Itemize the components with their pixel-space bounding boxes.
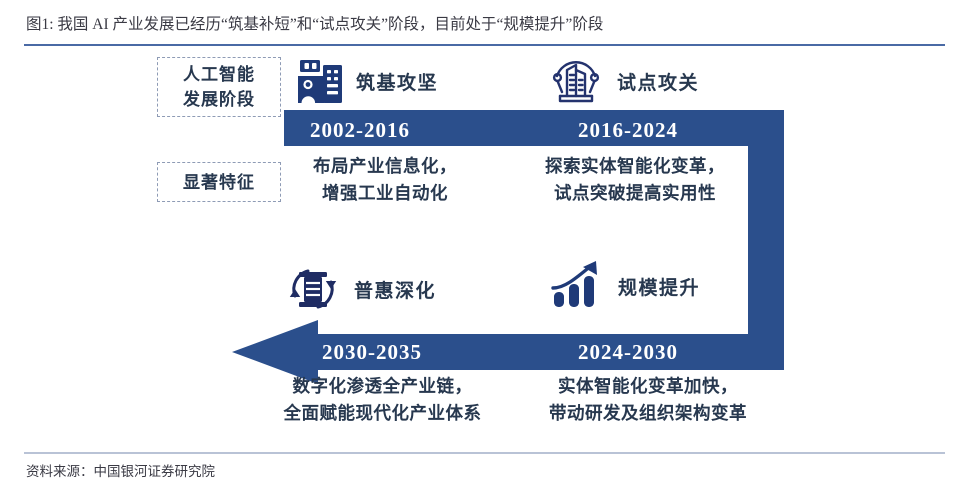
phase-heading-scale: 规模提升 <box>548 258 700 314</box>
source-note: 资料来源：中国银河证券研究院 <box>26 460 215 480</box>
header-divider <box>24 44 945 46</box>
tag-stage-line2: 发展阶段 <box>183 90 255 109</box>
factory-building-icon <box>296 56 346 106</box>
page-title: 图1: 我国 AI 产业发展已经历“筑基补短”和“试点攻关”阶段，目前处于“规模… <box>26 14 936 36</box>
phase-name-scale: 规模提升 <box>618 273 700 300</box>
phase-years-pilot: 2016-2024 <box>578 118 678 143</box>
growth-chart-icon <box>548 258 608 314</box>
phase-name-pilot: 试点攻关 <box>617 68 699 95</box>
phase-feature-pilot: 探索实体智能化变革， 试点突破提高实用性 <box>510 153 760 207</box>
phase-heading-foundation: 筑基攻坚 <box>296 56 438 106</box>
recycle-building-icon <box>282 258 344 320</box>
phase-feature-inclusive: 数字化渗透全产业链， 全面赋能现代化产业体系 <box>250 373 515 427</box>
ribbon-shape <box>232 110 784 384</box>
phase-feature-foundation: 布局产业信息化， 增强工业自动化 <box>290 153 480 207</box>
phase-years-foundation: 2002-2016 <box>310 118 410 143</box>
phase-feature-scale: 实体智能化变革加快， 带动研发及组织架构变革 <box>518 373 778 427</box>
tag-ai-development-stage: 人工智能 发展阶段 <box>157 57 281 117</box>
building-calipers-icon <box>545 52 607 110</box>
figure-canvas: 图1: 我国 AI 产业发展已经历“筑基补短”和“试点攻关”阶段，目前处于“规模… <box>0 0 969 500</box>
phase-years-inclusive: 2030-2035 <box>322 340 422 365</box>
footer-divider <box>24 452 945 454</box>
phase-heading-inclusive: 普惠深化 <box>282 258 436 320</box>
tag-significant-feature: 显著特征 <box>157 162 281 202</box>
phase-heading-pilot: 试点攻关 <box>545 52 699 110</box>
phase-name-foundation: 筑基攻坚 <box>356 68 438 95</box>
tag-feature-text: 显著特征 <box>183 170 255 195</box>
tag-stage-text: 人工智能 发展阶段 <box>183 62 255 112</box>
phase-years-scale: 2024-2030 <box>578 340 678 365</box>
tag-stage-line1: 人工智能 <box>183 65 255 84</box>
phase-name-inclusive: 普惠深化 <box>354 276 436 303</box>
